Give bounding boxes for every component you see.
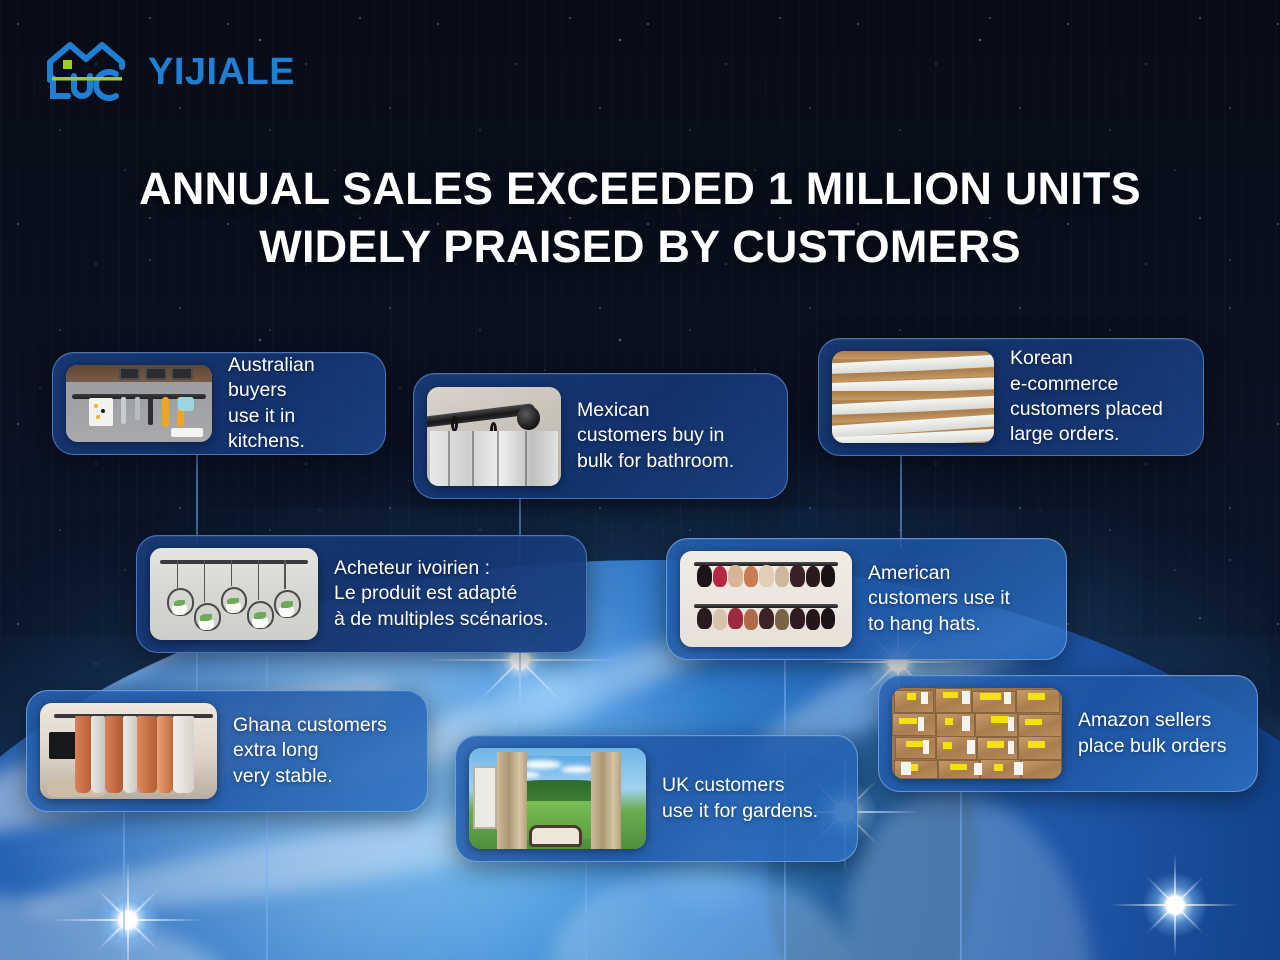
connector-uk — [585, 862, 587, 960]
card-text-uk: UK customers use it for gardens. — [662, 773, 824, 824]
page-title-line2: WIDELY PRAISED BY CUSTOMERS — [0, 218, 1280, 276]
testimonial-card-ghana[interactable]: Ghana customers extra long very stable. — [26, 690, 428, 812]
testimonial-card-uk[interactable]: UK customers use it for gardens. — [455, 735, 858, 862]
card-text-australia: Australian buyers use it in kitchens. — [228, 353, 372, 454]
card-text-korea: Korean e-commerce customers placed large… — [1010, 346, 1169, 447]
garden-patio-curtains-photo — [469, 748, 646, 849]
testimonial-card-amazon[interactable]: Amazon sellers place bulk orders — [878, 675, 1258, 792]
card-text-ghana: Ghana customers extra long very stable. — [233, 713, 393, 789]
poster-stage: YIJIALE ANNUAL SALES EXCEEDED 1 MILLION … — [0, 0, 1280, 960]
packed-rods-carton-photo — [832, 351, 994, 443]
page-title: ANNUAL SALES EXCEEDED 1 MILLION UNITS WI… — [0, 160, 1280, 275]
orange-curtains-room-photo — [40, 703, 217, 799]
card-text-ivory-coast: Acheteur ivoirien : Le produit est adapt… — [334, 556, 555, 632]
brand-logo[interactable]: YIJIALE — [44, 40, 295, 104]
brand-name: YIJIALE — [148, 53, 295, 91]
testimonial-card-mexico[interactable]: Mexican customers buy in bulk for bathro… — [413, 373, 788, 499]
page-title-line1: ANNUAL SALES EXCEEDED 1 MILLION UNITS — [139, 163, 1141, 214]
hats-on-rails-closet-photo — [680, 551, 852, 647]
kitchen-rail-utensils-photo — [66, 365, 212, 442]
house-roof-logo-icon — [44, 40, 144, 104]
connector-ghana — [123, 812, 125, 960]
stacked-cartons-yellow-labels-photo — [892, 688, 1062, 779]
card-text-america: American customers use it to hang hats. — [868, 561, 1016, 637]
black-curtain-rod-photo — [427, 387, 561, 486]
testimonial-card-ivory-coast[interactable]: Acheteur ivoirien : Le produit est adapt… — [136, 535, 587, 653]
card-text-mexico: Mexican customers buy in bulk for bathro… — [577, 398, 740, 474]
connector-korea — [900, 453, 902, 548]
testimonial-card-australia[interactable]: Australian buyers use it in kitchens. — [52, 352, 386, 455]
hanging-planters-rail-photo — [150, 548, 318, 640]
testimonial-card-korea[interactable]: Korean e-commerce customers placed large… — [818, 338, 1204, 456]
card-text-amazon: Amazon sellers place bulk orders — [1078, 708, 1233, 759]
testimonial-card-america[interactable]: American customers use it to hang hats. — [666, 538, 1067, 660]
connector-amazon — [960, 792, 962, 960]
